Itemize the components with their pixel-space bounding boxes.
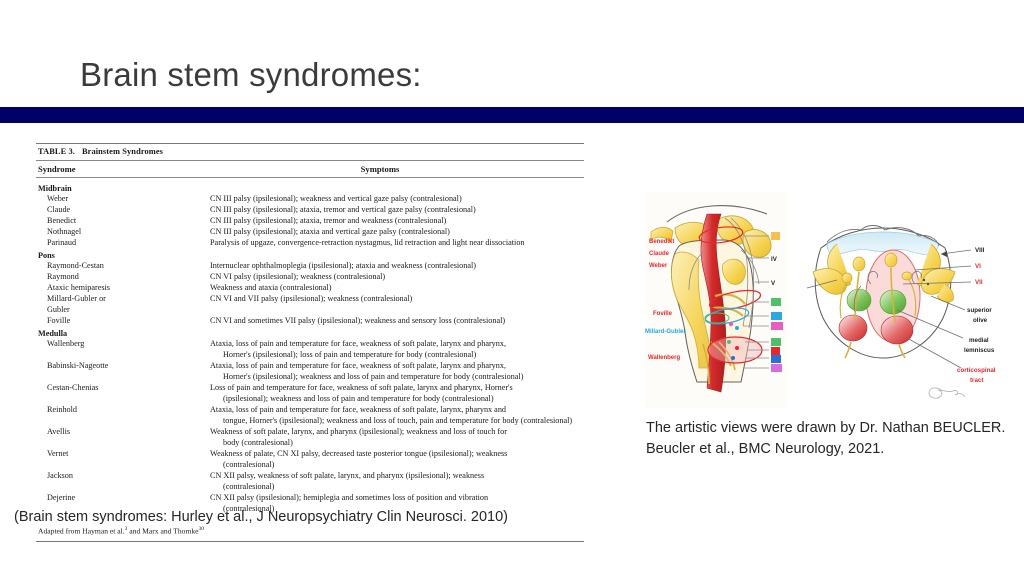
cell-syndrome: Jackson — [36, 471, 210, 482]
cell-syndrome: Raymond-Cestan — [36, 261, 210, 272]
table-row: ClaudeCN III palsy (ipsilesional); ataxi… — [36, 205, 584, 216]
table-row: WeberCN III palsy (ipsilesional); weakne… — [36, 194, 584, 205]
table-row: Raymond-CestanInternuclear ophthalmopleg… — [36, 261, 584, 272]
svg-text:Foville: Foville — [653, 311, 673, 317]
cell-syndrome: Wallenberg — [36, 339, 210, 350]
svg-text:VI: VI — [975, 263, 981, 270]
cell-symptoms: CN III palsy (ipsilesional); ataxia, tre… — [210, 216, 584, 227]
table-body: MidbrainWeberCN III palsy (ipsilesional)… — [36, 178, 584, 515]
cell-symptoms: CN III palsy (ipsilesional); ataxia, tre… — [210, 205, 584, 216]
cell-syndrome: Cestan-Chenias — [36, 383, 210, 394]
cell-symptoms: Paralysis of upgaze, convergence-retract… — [210, 238, 584, 249]
column-header-syndrome: Syndrome — [38, 164, 212, 174]
right-panel-labels: VIII VI VII superior olive medial lemnis… — [957, 247, 996, 384]
table-row: Millard-Gubler or GublerCN VI and VII pa… — [36, 294, 584, 316]
cell-syndrome: Benedict — [36, 216, 210, 227]
table-column-headers: Syndrome Symptoms — [36, 161, 584, 177]
cell-syndrome: Babinski-Nageotte — [36, 361, 210, 372]
svg-text:corticospinal: corticospinal — [957, 367, 996, 374]
cell-syndrome: Foville — [36, 316, 210, 327]
cell-symptoms-continuation: Horner's (ipsilesional); weakness and lo… — [210, 372, 584, 383]
note-text-1: Adapted from Hayman et al. — [38, 527, 125, 536]
svg-text:VIII: VIII — [975, 247, 985, 254]
table-row: Cestan-CheniasLoss of pain and temperatu… — [36, 383, 584, 405]
table-row: AvellisWeakness of soft palate, larynx, … — [36, 427, 584, 449]
cell-symptoms: Ataxia, loss of pain and temperature for… — [210, 361, 584, 383]
left-panel-posterior-view: IV V Benedikt Claude Weber Foville Milla… — [645, 192, 788, 408]
table-row: NothnagelCN III palsy (ipsilesional); at… — [36, 227, 584, 238]
cell-symptoms: CN III palsy (ipsilesional); ataxia and … — [210, 227, 584, 238]
cell-syndrome: Claude — [36, 205, 210, 216]
cell-symptoms: Weakness of soft palate, larynx, and pha… — [210, 427, 584, 449]
cell-symptoms: CN XII palsy, weakness of soft palate, l… — [210, 471, 584, 493]
table-row: Ataxic hemiparesisWeakness and ataxia (c… — [36, 283, 584, 294]
svg-text:Millard-Gubler: Millard-Gubler — [645, 329, 686, 335]
cell-syndrome: Reinhold — [36, 405, 210, 416]
svg-text:Weber: Weber — [649, 263, 668, 269]
table-caption-number: TABLE 3. — [38, 147, 75, 156]
cell-symptoms: CN VI palsy (ipsilesional); weakness (co… — [210, 272, 584, 283]
cell-symptoms: Weakness of palate, CN XI palsy, decreas… — [210, 449, 584, 471]
column-header-symptoms: Symptoms — [212, 164, 582, 174]
cell-syndrome: Vernet — [36, 449, 210, 460]
cell-symptoms: Ataxia, loss of pain and temperature for… — [210, 339, 584, 361]
cell-symptoms-continuation: (contralesional) — [210, 482, 584, 493]
svg-text:olive: olive — [973, 317, 988, 324]
table-group-header: Midbrain — [36, 182, 584, 194]
table-group-header: Pons — [36, 249, 584, 261]
cell-syndrome: Avellis — [36, 427, 210, 438]
artist-signature — [929, 388, 965, 398]
svg-text:superior: superior — [967, 307, 992, 314]
svg-text:VII: VII — [975, 279, 983, 286]
brainstem-illustration: IV V Benedikt Claude Weber Foville Milla… — [645, 192, 1024, 408]
table-caption-title: Brainstem Syndromes — [82, 147, 163, 156]
table-row: RaymondCN VI palsy (ipsilesional); weakn… — [36, 272, 584, 283]
cell-syndrome: Raymond — [36, 272, 210, 283]
cell-syndrome: Weber — [36, 194, 210, 205]
cell-symptoms: Weakness and ataxia (contralesional) — [210, 283, 584, 294]
note-superscript-2: 30 — [199, 526, 204, 532]
note-text-2: and Marx and Thomke — [127, 527, 198, 536]
cell-symptoms-continuation: (ipsilesional); weakness and loss of pai… — [210, 394, 584, 405]
cell-syndrome: Millard-Gubler or Gubler — [36, 294, 210, 316]
cell-symptoms-continuation: (contralesional) — [210, 460, 584, 471]
illustration-credit-caption: The artistic views were drawn by Dr. Nat… — [646, 418, 1018, 460]
table-row: ParinaudParalysis of upgaze, convergence… — [36, 238, 584, 249]
cell-syndrome: Parinaud — [36, 238, 210, 249]
svg-text:Benedikt: Benedikt — [649, 239, 674, 245]
svg-text:tract: tract — [970, 377, 983, 384]
svg-text:Wallenberg: Wallenberg — [648, 355, 680, 361]
brainstem-syndromes-table: TABLE 3.Brainstem Syndromes Syndrome Sym… — [36, 143, 584, 542]
cell-syndrome: Ataxic hemiparesis — [36, 283, 210, 294]
table-row: Babinski-NageotteAtaxia, loss of pain an… — [36, 361, 584, 383]
svg-text:Claude: Claude — [649, 251, 670, 257]
table-row: FovilleCN VI and sometimes VII palsy (ip… — [36, 316, 584, 327]
cell-syndrome: Dejerine — [36, 493, 210, 504]
cell-symptoms-continuation: body (contralesional) — [210, 438, 584, 449]
cell-symptoms-continuation: Horner's (ipsilesional); loss of pain an… — [210, 350, 584, 361]
table-row: VernetWeakness of palate, CN XI palsy, d… — [36, 449, 584, 471]
svg-text:lemniscus: lemniscus — [964, 347, 995, 354]
cell-syndrome: Nothnagel — [36, 227, 210, 238]
cell-symptoms-continuation: tongue, Horner's (ipsilesional); weaknes… — [210, 416, 584, 427]
right-panel-cross-section: VIII VI VII superior olive medial lemnis… — [807, 226, 996, 399]
cell-symptoms: Internuclear ophthalmoplegia (ipsilesion… — [210, 261, 584, 272]
table-row: WallenbergAtaxia, loss of pain and tempe… — [36, 339, 584, 361]
table-caption: TABLE 3.Brainstem Syndromes — [36, 144, 584, 160]
source-caption: (Brain stem syndromes: Hurley et al., J … — [14, 509, 508, 525]
cell-symptoms: CN VI and VII palsy (ipsilesional); weak… — [210, 294, 584, 305]
table-group-header: Medulla — [36, 327, 584, 339]
table-row: ReinholdAtaxia, loss of pain and tempera… — [36, 405, 584, 427]
svg-text:medial: medial — [969, 337, 989, 344]
cell-symptoms: Ataxia, loss of pain and temperature for… — [210, 405, 584, 427]
svg-text:IV: IV — [771, 256, 778, 263]
table-bottom-rule — [36, 541, 584, 542]
table-row: JacksonCN XII palsy, weakness of soft pa… — [36, 471, 584, 493]
page-title: Brain stem syndromes: — [80, 56, 422, 94]
accent-divider-bar — [0, 107, 1024, 123]
cell-symptoms: CN VI and sometimes VII palsy (ipsilesio… — [210, 316, 584, 327]
cell-symptoms: CN III palsy (ipsilesional); weakness an… — [210, 194, 584, 205]
cell-symptoms: Loss of pain and temperature for face, w… — [210, 383, 584, 405]
table-row: BenedictCN III palsy (ipsilesional); ata… — [36, 216, 584, 227]
